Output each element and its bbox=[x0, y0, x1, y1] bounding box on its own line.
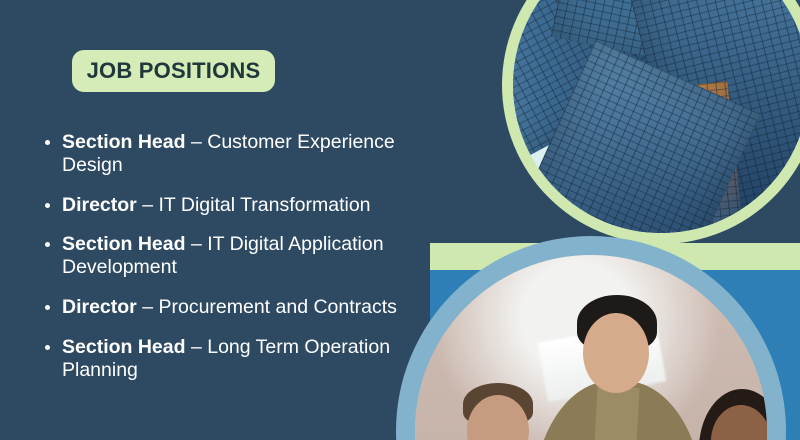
position-role: Director bbox=[62, 296, 137, 318]
position-role: Section Head bbox=[62, 336, 186, 358]
position-separator: – bbox=[137, 296, 159, 318]
bullet-icon bbox=[45, 203, 50, 208]
list-item: Section Head – IT Digital Application De… bbox=[38, 233, 398, 279]
position-separator: – bbox=[186, 233, 208, 255]
text-column: JOB POSITIONS Section Head – Customer Ex… bbox=[0, 0, 430, 440]
bullet-icon bbox=[45, 305, 50, 310]
skyscrapers-circle-frame bbox=[502, 0, 800, 244]
page-title: JOB POSITIONS bbox=[87, 58, 261, 84]
business-team-circle-frame bbox=[396, 236, 786, 440]
list-item: Director – IT Digital Transformation bbox=[38, 194, 398, 217]
position-separator: – bbox=[137, 194, 159, 216]
business-team-photo bbox=[415, 255, 767, 440]
list-item: Section Head – Long Term Operation Plann… bbox=[38, 336, 398, 382]
job-positions-list: Section Head – Customer Experience Desig… bbox=[38, 131, 398, 382]
position-role: Director bbox=[62, 194, 137, 216]
position-detail: IT Digital Transformation bbox=[158, 194, 370, 216]
bullet-icon bbox=[45, 242, 50, 247]
position-separator: – bbox=[186, 336, 208, 358]
position-role: Section Head bbox=[62, 131, 186, 153]
skyscrapers-photo bbox=[513, 0, 800, 233]
bullet-icon bbox=[45, 345, 50, 350]
list-item: Director – Procurement and Contracts bbox=[38, 296, 398, 319]
position-separator: – bbox=[186, 131, 208, 153]
list-item: Section Head – Customer Experience Desig… bbox=[38, 131, 398, 177]
page-title-badge: JOB POSITIONS bbox=[72, 50, 275, 92]
bullet-icon bbox=[45, 140, 50, 145]
job-positions-poster: JOB POSITIONS Section Head – Customer Ex… bbox=[0, 0, 800, 440]
position-detail: Procurement and Contracts bbox=[158, 296, 396, 318]
position-role: Section Head bbox=[62, 233, 186, 255]
